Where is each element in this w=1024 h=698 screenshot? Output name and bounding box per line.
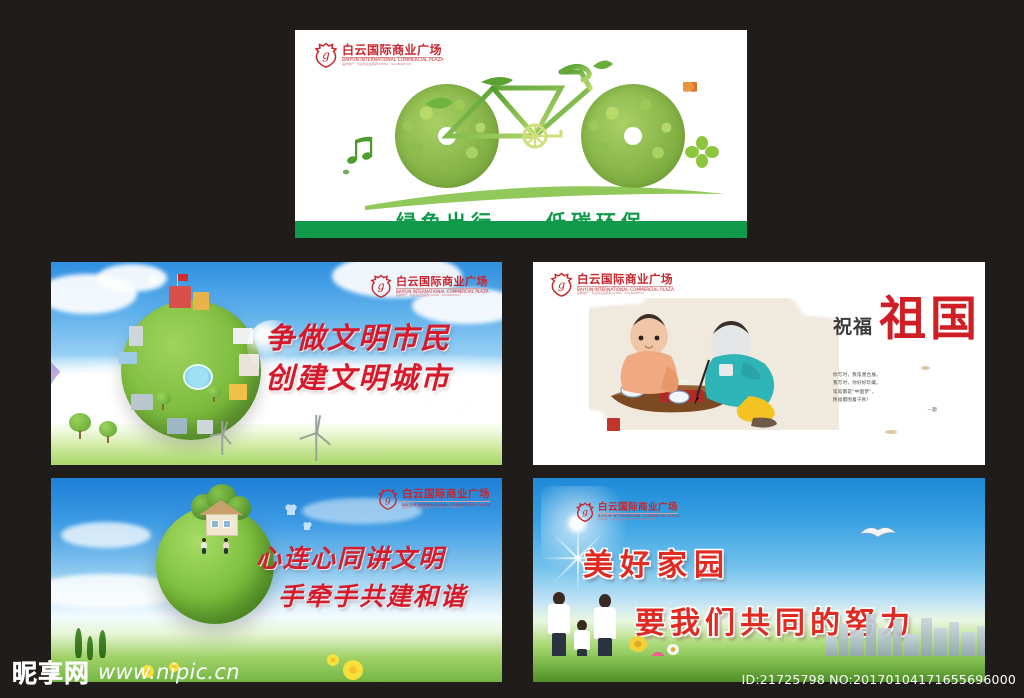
bubble-decoration bbox=[147, 274, 163, 290]
svg-text:g: g bbox=[385, 494, 392, 505]
site-watermark: 昵享网 www.nipic.cn bbox=[12, 654, 240, 690]
svg-text:g: g bbox=[322, 48, 330, 62]
foreground-tree bbox=[99, 421, 117, 443]
panel-civilized-citizen[interactable]: g 白云国际商业广场 BAIYUN INTERNATIONAL COMMERCI… bbox=[51, 262, 502, 465]
planet-tree bbox=[155, 392, 171, 410]
flower-icon bbox=[629, 636, 647, 652]
brand-text: 白云国际商业广场 BAIYUN INTERNATIONAL COMMERCIAL… bbox=[396, 276, 488, 297]
crest-icon: g bbox=[575, 502, 595, 522]
bless-motherland-title: 祝福 祖国 bbox=[833, 298, 981, 343]
brand-subtitle-en: 品牌地产 · 专业商业运营商 CHINA · GUANGZHOU bbox=[598, 519, 678, 522]
poem-line: 笔笔都是“中国梦”， bbox=[833, 390, 877, 395]
family-father bbox=[547, 592, 571, 666]
brand-name-cn: 白云国际商业广场 bbox=[396, 276, 488, 287]
red-seal-stamp bbox=[607, 418, 620, 431]
brand-logo: g 白云国际商业广场 BAIYUN INTERNATIONAL COMMERCI… bbox=[575, 502, 678, 522]
headline-line-1: 争做文明市民 bbox=[265, 318, 495, 358]
gold-fleck-decoration bbox=[921, 366, 930, 370]
globe-person bbox=[201, 538, 207, 554]
watermark-site-url: www.nipic.cn bbox=[98, 660, 240, 684]
brand-subtitle-en: 品牌地产 · 专业商业运营商 CHINA · GUANGZHOU bbox=[402, 506, 490, 509]
brand-name-en: BAIYUN INTERNATIONAL COMMERCIAL PLAZA bbox=[396, 290, 490, 294]
crest-icon: g bbox=[549, 272, 574, 297]
crest-icon: g bbox=[369, 274, 393, 298]
cloud-puff bbox=[61, 522, 151, 548]
brand-text: 白云国际商业广场 BAIYUN INTERNATIONAL COMMERCIAL… bbox=[577, 274, 673, 296]
crest-icon: g bbox=[313, 42, 339, 68]
poem-line: 民福都围着千秋! bbox=[833, 398, 869, 403]
panel-beautiful-homeland[interactable]: g 白云国际商业广场 BAIYUN INTERNATIONAL COMMERCI… bbox=[533, 478, 985, 682]
poem-line: 我写时，你好好珍藏。 bbox=[833, 381, 881, 386]
globe-person bbox=[223, 538, 229, 554]
poem-line: 你写时，我笔墨合展。 bbox=[833, 373, 881, 378]
brand-name-cn: 白云国际商业广场 bbox=[598, 503, 678, 513]
butterfly-icon bbox=[683, 82, 697, 94]
brand-name-cn: 白云国际商业广场 bbox=[402, 489, 490, 500]
brand-name-en: BAIYUN INTERNATIONAL COMMERCIAL PLAZA bbox=[577, 288, 675, 292]
watermark-site-name: 昵享网 bbox=[12, 654, 90, 690]
image-id-line: ID:21725798 NO:20170104171655696000 bbox=[742, 672, 1016, 687]
svg-text:g: g bbox=[558, 277, 565, 291]
svg-text:g: g bbox=[582, 507, 588, 518]
seagull-icon bbox=[859, 524, 897, 538]
planet-tree bbox=[207, 386, 221, 402]
headline-line-2: 创建文明城市 bbox=[265, 358, 495, 398]
foreground-tree bbox=[69, 413, 91, 439]
crest-icon: g bbox=[377, 488, 399, 510]
brand-name-en: BAIYUN INTERNATIONAL COMMERCIAL PLAZA bbox=[402, 503, 492, 507]
poster-collage-canvas: g 白云国际商业广场 BAIYUN INTERNATIONAL COMMERCI… bbox=[0, 0, 1024, 698]
title-main: 祖国 bbox=[879, 298, 981, 343]
headline-line-1: 美好家园 bbox=[583, 540, 973, 584]
title-prefix: 祝福 bbox=[833, 312, 873, 343]
brand-text: 白云国际商业广场 BAIYUN INTERNATIONAL COMMERCIAL… bbox=[402, 489, 490, 509]
planet-building bbox=[193, 292, 209, 310]
bicycle-frame-icon bbox=[385, 48, 715, 188]
planet-building bbox=[169, 286, 191, 308]
planet-building bbox=[119, 352, 137, 364]
svg-text:g: g bbox=[377, 280, 384, 293]
bicycle-illustration bbox=[385, 48, 715, 188]
civilized-citizen-headline: 争做文明市民 创建文明城市 bbox=[265, 318, 495, 398]
brand-logo: g 白云国际商业广场 BAIYUN INTERNATIONAL COMMERCI… bbox=[369, 274, 488, 298]
flower-icon bbox=[343, 660, 363, 680]
planet-building bbox=[129, 326, 143, 346]
clover-icon bbox=[685, 136, 719, 168]
music-notes-icon bbox=[343, 134, 387, 178]
brand-subtitle-en: 品牌地产 · 专业商业运营商 CHINA · GUANGZHOU bbox=[396, 294, 488, 297]
panel-green-travel[interactable]: g 白云国际商业广场 BAIYUN INTERNATIONAL COMMERCI… bbox=[295, 30, 747, 238]
panel-heart-to-heart[interactable]: g 白云国际商业广场 BAIYUN INTERNATIONAL COMMERCI… bbox=[51, 478, 502, 682]
tiny-planet-illustration bbox=[121, 300, 261, 440]
gold-fleck-decoration bbox=[885, 430, 897, 434]
clay-dolls-illustration bbox=[593, 300, 843, 430]
planet-building bbox=[131, 394, 153, 410]
heart-to-heart-headline: 心连心同讲文明 手牵手共建和谐 bbox=[256, 540, 502, 615]
poem-block: 你写时，我笔墨合展。 我写时，你好好珍藏。 笔笔都是“中国梦”， 民福都围着千秋… bbox=[833, 372, 937, 415]
heart-icon bbox=[285, 504, 297, 515]
flower-icon bbox=[327, 654, 339, 666]
brand-subtitle-en: 品牌地产 · 专业商业运营商 CHINA · GUANGZHOU bbox=[577, 292, 673, 295]
planet-building bbox=[167, 418, 187, 434]
poem-signature: —题 bbox=[833, 407, 937, 415]
windmill-icon bbox=[211, 421, 233, 455]
heart-icon bbox=[303, 522, 312, 530]
flag-icon bbox=[178, 274, 188, 281]
windmill-icon bbox=[301, 415, 331, 461]
flower-icon bbox=[667, 644, 679, 655]
brand-logo: g 白云国际商业广场 BAIYUN INTERNATIONAL COMMERCI… bbox=[549, 272, 673, 297]
panel-bless-motherland[interactable]: g 白云国际商业广场 BAIYUN INTERNATIONAL COMMERCI… bbox=[533, 262, 985, 465]
headline-line-2: 手牵手共建和谐 bbox=[278, 578, 502, 616]
planet-building bbox=[229, 384, 247, 400]
green-accent-bar bbox=[295, 221, 747, 238]
brand-name-en: BAIYUN INTERNATIONAL COMMERCIAL PLAZA bbox=[598, 515, 680, 519]
brand-text: 白云国际商业广场 BAIYUN INTERNATIONAL COMMERCIAL… bbox=[598, 503, 678, 522]
city-skyline bbox=[825, 606, 985, 658]
brand-logo: g 白云国际商业广场 BAIYUN INTERNATIONAL COMMERCI… bbox=[377, 488, 490, 510]
headline-line-1: 心连心同讲文明 bbox=[256, 540, 502, 578]
cottage-icon bbox=[199, 500, 243, 534]
brand-name-cn: 白云国际商业广场 bbox=[577, 274, 673, 286]
